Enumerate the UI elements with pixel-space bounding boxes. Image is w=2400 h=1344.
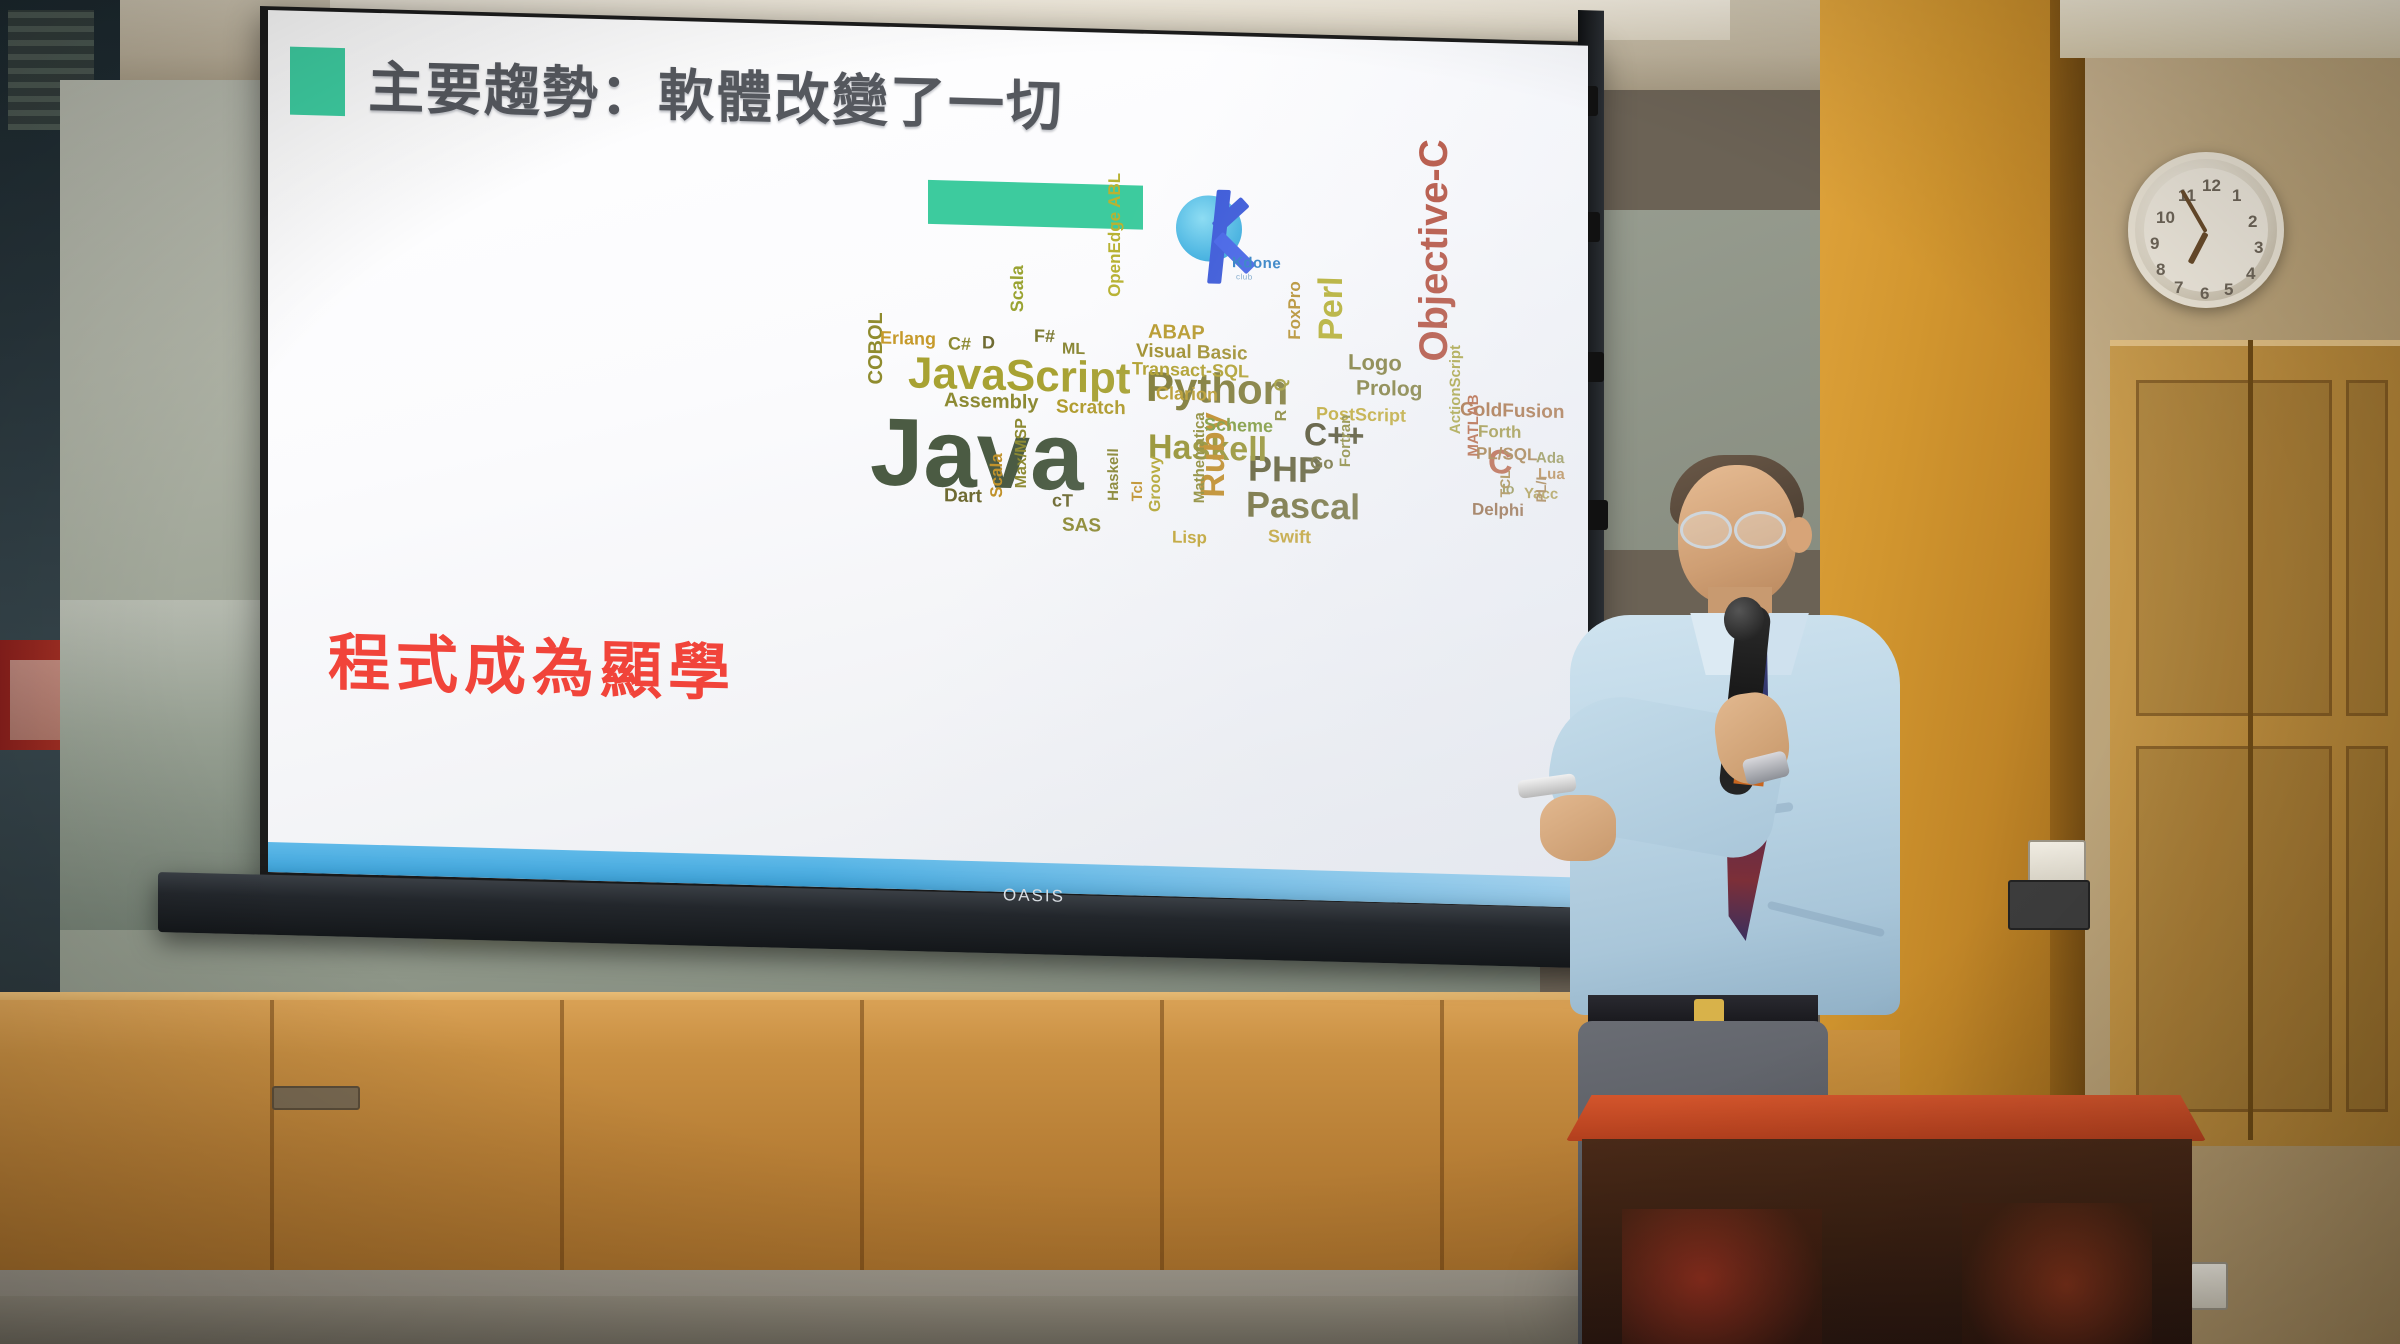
word-cloud-term: PL/SQL	[1476, 445, 1537, 464]
word-cloud-term: Q	[1272, 378, 1289, 392]
word-cloud-term: Dart	[944, 486, 982, 506]
word-cloud-term: D	[982, 333, 995, 351]
word-cloud-term: ML	[1062, 341, 1085, 358]
word-cloud-term: Lisp	[1172, 528, 1207, 546]
word-cloud-term: Assembly	[944, 390, 1039, 413]
word-cloud-term: Scheme	[1204, 415, 1273, 435]
word-cloud-term: Go	[1310, 454, 1334, 472]
clock-numeral-4: 4	[2246, 264, 2255, 284]
photo-scene: 12 1 2 3 4 5 6 7 8 9 10 11	[0, 0, 2400, 1344]
word-cloud-term: Logo	[1348, 351, 1402, 374]
right-column-edge	[2050, 0, 2090, 1160]
word-cloud-term: Scala	[988, 453, 1005, 498]
word-cloud-term: Max/MSP	[1014, 418, 1030, 489]
clock-numeral-8: 8	[2156, 260, 2165, 280]
slide-highlight-text: 程式成為顯學	[328, 612, 736, 713]
word-cloud-term: MATLAB	[1466, 394, 1481, 457]
presenter-left-hand	[1540, 795, 1616, 861]
clock-numeral-5: 5	[2224, 280, 2233, 300]
wainscot-seam	[560, 1000, 564, 1300]
word-cloud-term: Delphi	[1472, 501, 1524, 519]
wall-socket-plate[interactable]	[2008, 880, 2090, 930]
word-cloud-term: cT	[1052, 491, 1073, 510]
word-cloud-term: Haskell	[1106, 448, 1121, 501]
word-cloud-term: C#	[948, 334, 971, 353]
word-cloud-term: ActionScript	[1448, 345, 1463, 435]
word-cloud-term: FoxPro	[1286, 281, 1303, 340]
clock-numeral-7: 7	[2174, 278, 2183, 298]
presenter-glasses-right-lens	[1734, 511, 1786, 549]
podium-top-surface	[1566, 1095, 2206, 1141]
presenter-ear	[1786, 517, 1812, 553]
word-cloud-term: TCL	[1498, 470, 1512, 498]
word-cloud-term: Erlang	[880, 329, 936, 349]
word-cloud-term: Scala	[1008, 265, 1026, 313]
door-panel-upper-left	[2136, 380, 2332, 716]
title-accent-square	[290, 47, 345, 116]
word-cloud-term: Pascal	[1246, 486, 1360, 525]
shirt-fold	[1767, 901, 1885, 938]
wainscot-seam	[860, 1000, 864, 1300]
word-cloud-term: R	[1274, 410, 1290, 422]
word-cloud-term: Forth	[1478, 423, 1521, 441]
wall-clock: 12 1 2 3 4 5 6 7 8 9 10 11	[2128, 152, 2284, 308]
wainscot-seam	[1160, 1000, 1164, 1300]
slide: 主要趨勢：軟體改變了一切 Kdone club JavaJavaScriptPy…	[268, 10, 1588, 908]
clock-numeral-6: 6	[2200, 284, 2209, 304]
clock-numeral-10: 10	[2156, 208, 2175, 228]
word-cloud-term: SAS	[1062, 515, 1101, 535]
word-cloud: JavaJavaScriptPythonObjective-CPascalPHP…	[848, 288, 1468, 605]
podium[interactable]	[1566, 1095, 2206, 1344]
clock-numeral-9: 9	[2150, 234, 2159, 254]
door-panel-upper-right	[2346, 380, 2388, 716]
word-cloud-term: Objective-C	[1414, 139, 1454, 362]
slide-surface: 主要趨勢：軟體改變了一切 Kdone club JavaJavaScriptPy…	[268, 10, 1588, 908]
clock-numeral-12: 12	[2202, 176, 2221, 196]
podium-decoration-left	[1622, 1209, 1822, 1344]
projection-screen: 主要趨勢：軟體改變了一切 Kdone club JavaJavaScriptPy…	[78, 0, 1538, 960]
word-cloud-term: Transact-SQL	[1132, 359, 1249, 380]
wainscot-wood-panel	[0, 1000, 1620, 1300]
wainscot-seam	[270, 1000, 274, 1300]
floor	[0, 1296, 1700, 1344]
wainscot-seam	[1440, 1000, 1444, 1300]
slide-title: 主要趨勢：軟體改變了一切	[368, 43, 1064, 143]
word-cloud-term: Tcl	[1130, 481, 1145, 502]
word-cloud-term: Groovy	[1148, 456, 1164, 512]
word-cloud-term: COBOL	[866, 312, 886, 385]
clock-numeral-1: 1	[2232, 186, 2241, 206]
screen-brand-label: OASIS	[1003, 885, 1065, 907]
clock-face: 12 1 2 3 4 5 6 7 8 9 10 11	[2144, 168, 2268, 292]
wainscot-vent	[272, 1086, 360, 1110]
word-cloud-term: PostScript	[1316, 404, 1406, 424]
clock-numeral-3: 3	[2254, 238, 2263, 258]
word-cloud-term: Swift	[1268, 527, 1311, 546]
presenter-glasses-left-lens	[1680, 511, 1732, 549]
word-cloud-term: Prolog	[1356, 377, 1423, 400]
podium-decoration-right	[1962, 1203, 2152, 1344]
door-seam	[2248, 340, 2253, 1140]
logo-tagline: club	[1236, 272, 1253, 281]
door-panel-lower-right	[2346, 746, 2388, 1112]
word-cloud-term: Perl	[1314, 276, 1348, 341]
word-cloud-term: Scratch	[1056, 397, 1126, 418]
word-cloud-term: Clarion	[1156, 384, 1218, 404]
word-cloud-term: Fortran	[1338, 414, 1353, 467]
clock-numeral-2: 2	[2248, 212, 2257, 232]
word-cloud-term: OpenEdge ABL	[1106, 173, 1123, 298]
logo-wordmark: Kdone	[1232, 254, 1281, 272]
right-wooden-doors[interactable]	[2110, 340, 2400, 1146]
clock-hour-hand	[2188, 232, 2209, 265]
crown-molding	[2060, 0, 2400, 58]
brand-logo: Kdone club	[1168, 182, 1266, 293]
word-cloud-term: F#	[1034, 327, 1055, 346]
podium-body	[1582, 1139, 2192, 1344]
door-panel-lower-left	[2136, 746, 2332, 1112]
